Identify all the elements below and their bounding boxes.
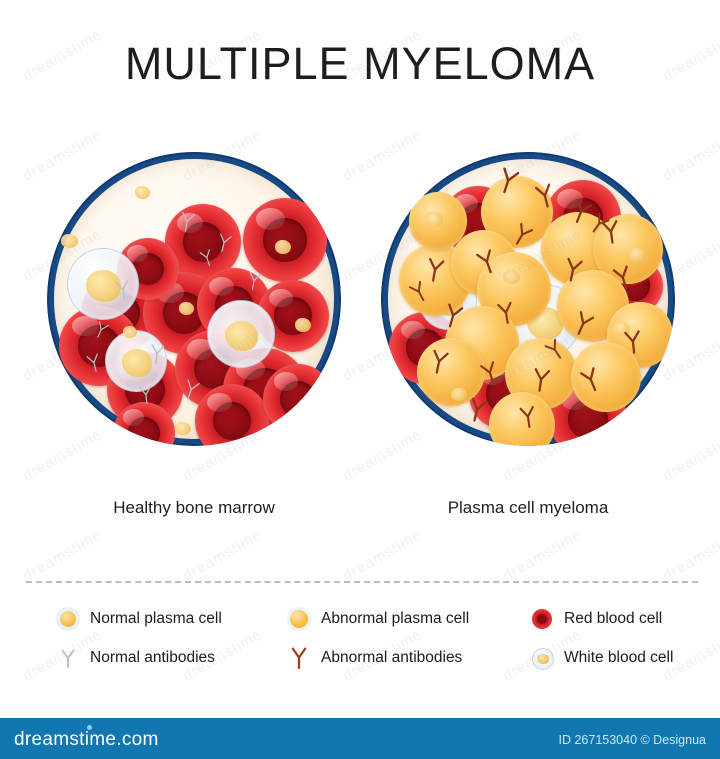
legend-item-red-blood-cell: Red blood cell <box>529 606 662 632</box>
normal-antibody <box>144 341 170 367</box>
legend-item-normal-plasma-cell: Normal plasma cell <box>55 606 222 632</box>
healthy-cell-group <box>47 152 341 446</box>
healthy-bone-marrow-diagram <box>47 152 341 446</box>
legend-item-white-blood-cell: White blood cell <box>529 645 673 671</box>
normal-plasma-cell <box>179 302 194 315</box>
normal-plasma-cell <box>175 422 191 435</box>
logo-dot-icon <box>87 725 92 730</box>
normal-antibody <box>109 276 136 303</box>
white-blood-cell-icon <box>529 645 555 671</box>
abnormal-antibody <box>618 327 649 358</box>
legend-label: Normal antibodies <box>90 649 215 667</box>
legend-label: White blood cell <box>564 649 673 667</box>
normal-antibody <box>173 208 201 236</box>
normal-antibody <box>241 268 266 293</box>
legend-label: Red blood cell <box>564 610 662 628</box>
legend-label: Abnormal plasma cell <box>321 610 469 628</box>
white-blood-cell <box>207 300 275 368</box>
abnormal-antibody <box>513 402 542 431</box>
abnormal-antibody <box>422 345 455 378</box>
normal-antibodies-icon <box>55 645 81 671</box>
myeloma-cell-group <box>381 152 675 446</box>
normal-plasma-cell <box>135 186 150 199</box>
watermark-text: dreamstime <box>340 526 425 585</box>
normal-plasma-cell-icon <box>55 606 81 632</box>
abnormal-plasma-cell-icon <box>286 606 312 632</box>
watermark-text: dreamstime <box>20 526 105 585</box>
abnormal-antibody <box>491 298 521 328</box>
caption-myeloma: Plasma cell myeloma <box>381 498 675 518</box>
illustration-canvas: MULTIPLE MYELOMA Healthy bone marrow Pla… <box>0 0 720 759</box>
legend-item-normal-antibodies: Normal antibodies <box>55 645 215 671</box>
legend: Normal plasma cell Abnormal plasma cell … <box>0 600 720 686</box>
abnormal-plasma-cell <box>425 212 443 227</box>
watermark-text: dreamstime <box>180 526 265 585</box>
image-credit: ID 267153040 © Designua <box>558 733 706 747</box>
legend-divider <box>26 581 698 583</box>
watermark-text: dreamstime <box>500 526 585 585</box>
watermark-text: dreamstime <box>660 526 720 585</box>
footer-bar: dreamstime.com ID 267153040 © Designua <box>0 718 720 759</box>
dreamstime-logo[interactable]: dreamstime.com <box>14 729 159 751</box>
page-title: MULTIPLE MYELOMA <box>0 38 720 90</box>
legend-item-abnormal-plasma-cell: Abnormal plasma cell <box>286 606 469 632</box>
red-blood-cell-icon <box>529 606 555 632</box>
red-blood-cell <box>263 364 333 434</box>
normal-plasma-cell <box>275 240 291 254</box>
abnormal-antibody <box>525 364 557 396</box>
normal-antibody <box>134 383 158 407</box>
caption-healthy: Healthy bone marrow <box>47 498 341 518</box>
normal-plasma-cell <box>61 234 78 248</box>
legend-item-abnormal-antibodies: Abnormal antibodies <box>286 645 462 671</box>
abnormal-antibody <box>556 253 589 286</box>
dreamstime-logo-text: dreamstime.com <box>14 729 159 750</box>
abnormal-antibodies-icon <box>286 645 312 671</box>
normal-plasma-cell <box>295 318 311 332</box>
legend-label: Abnormal antibodies <box>321 649 462 667</box>
normal-plasma-cell <box>123 326 137 338</box>
legend-label: Normal plasma cell <box>90 610 222 628</box>
plasma-cell-myeloma-diagram <box>381 152 675 446</box>
abnormal-plasma-cell <box>503 270 520 284</box>
